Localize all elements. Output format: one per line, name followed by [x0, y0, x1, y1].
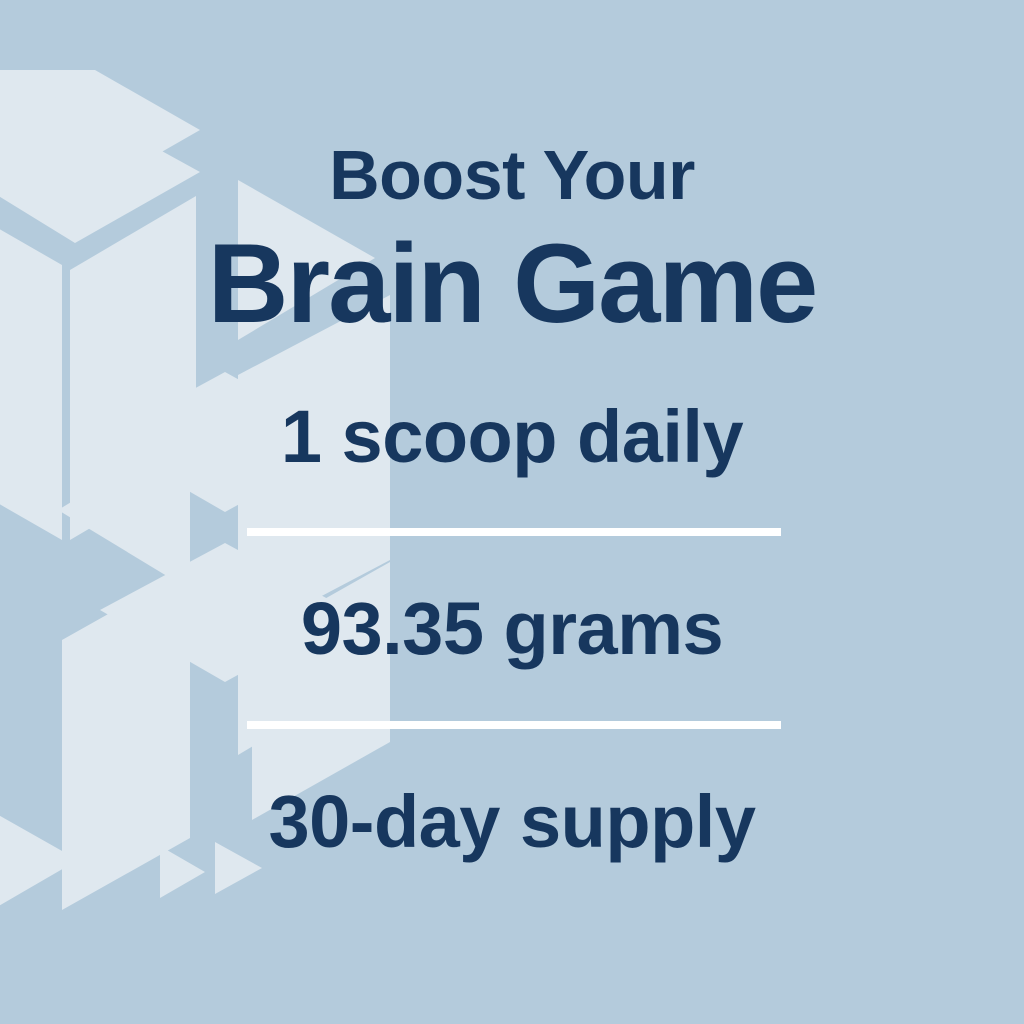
divider-rule-top	[247, 528, 781, 536]
eyebrow-text: Boost Your	[0, 140, 1024, 210]
promo-poster: Boost Your Brain Game 1 scoop daily 93.3…	[0, 0, 1024, 1024]
poster-content: Boost Your Brain Game 1 scoop daily 93.3…	[0, 0, 1024, 1024]
spec-dosage: 1 scoop daily	[0, 400, 1024, 474]
spec-supply-duration: 30-day supply	[0, 785, 1024, 859]
divider-rule-bottom	[247, 721, 781, 729]
spec-weight: 93.35 grams	[0, 592, 1024, 666]
headline-text: Brain Game	[0, 228, 1024, 340]
